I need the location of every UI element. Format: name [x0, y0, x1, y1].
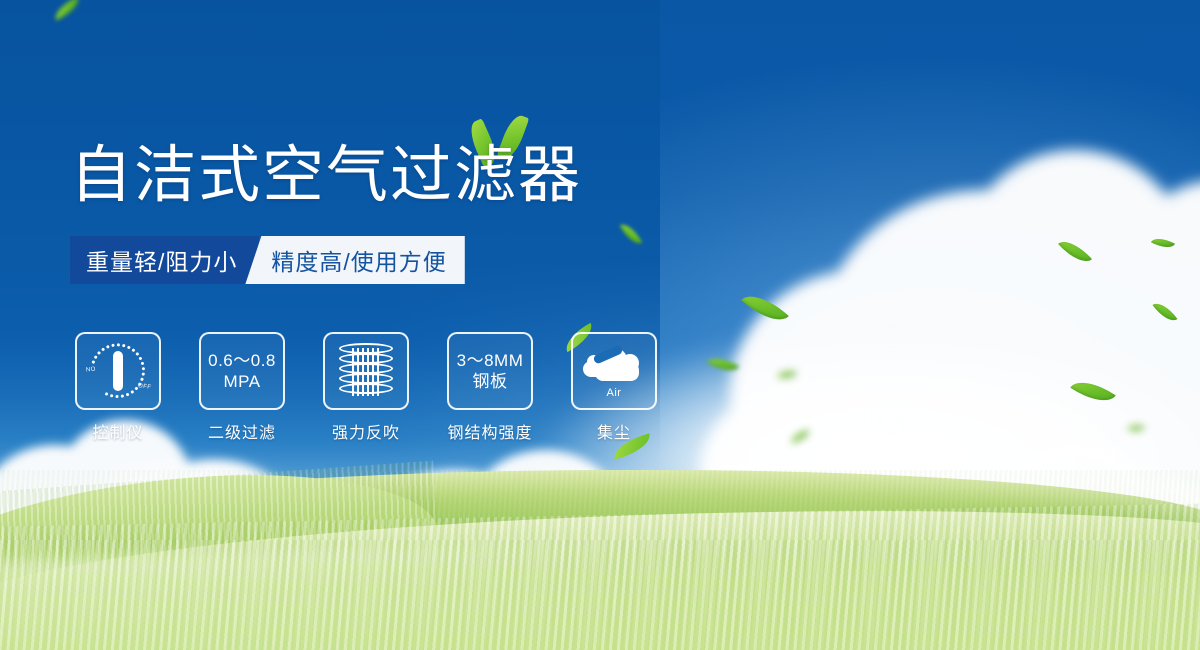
subtitle-badge-primary: 重量轻/阻力小 [70, 236, 259, 284]
filter-coil-icon [339, 342, 393, 400]
feature-label: 强力反吹 [332, 419, 400, 443]
feature-item-backblow[interactable]: 强力反吹 [318, 332, 414, 443]
feature-label: 集尘 [597, 419, 631, 443]
gauge-label-off: OFF [137, 383, 151, 391]
feature-icon-box [323, 332, 409, 410]
feature-icon-box: Air [571, 332, 657, 410]
air-label: Air [583, 387, 645, 399]
steel-value-line1: 3～8MM [457, 350, 524, 371]
banner-content: 自洁式空气过滤器 重量轻/阻力小 精度高/使用方便 [0, 0, 1200, 650]
air-cloud-icon: Air [583, 345, 645, 397]
pressure-value-line2: MPA [223, 371, 260, 392]
feature-item-controller[interactable]: NO OFF 控制仪 [70, 332, 166, 443]
feature-icon-box: NO OFF [75, 332, 161, 410]
feature-item-dust-collection[interactable]: Air 集尘 [566, 332, 662, 443]
steel-value-line2: 钢板 [473, 371, 508, 392]
feature-label: 控制仪 [92, 419, 143, 443]
gauge-label-no: NO [86, 367, 96, 374]
feature-list: NO OFF 控制仪 0.6～0.8 MPA 二级过滤 [70, 332, 662, 443]
gauge-dial-icon: NO OFF [87, 342, 149, 400]
page-title: 自洁式空气过滤器 [70, 140, 582, 212]
feature-item-two-stage-filter[interactable]: 0.6～0.8 MPA 二级过滤 [194, 332, 290, 443]
feature-item-steel-strength[interactable]: 3～8MM 钢板 钢结构强度 [442, 332, 538, 443]
gauge-needle [113, 351, 123, 391]
feature-icon-box: 0.6～0.8 MPA [199, 332, 285, 410]
feature-label: 钢结构强度 [447, 419, 532, 443]
subtitle-badge-bar: 重量轻/阻力小 精度高/使用方便 [70, 236, 465, 284]
feature-label: 二级过滤 [208, 419, 276, 443]
product-hero-banner: 自洁式空气过滤器 重量轻/阻力小 精度高/使用方便 [0, 0, 1200, 650]
feature-icon-box: 3～8MM 钢板 [447, 332, 533, 410]
subtitle-badge-secondary: 精度高/使用方便 [245, 236, 464, 284]
pressure-value-line1: 0.6～0.8 [208, 350, 276, 371]
